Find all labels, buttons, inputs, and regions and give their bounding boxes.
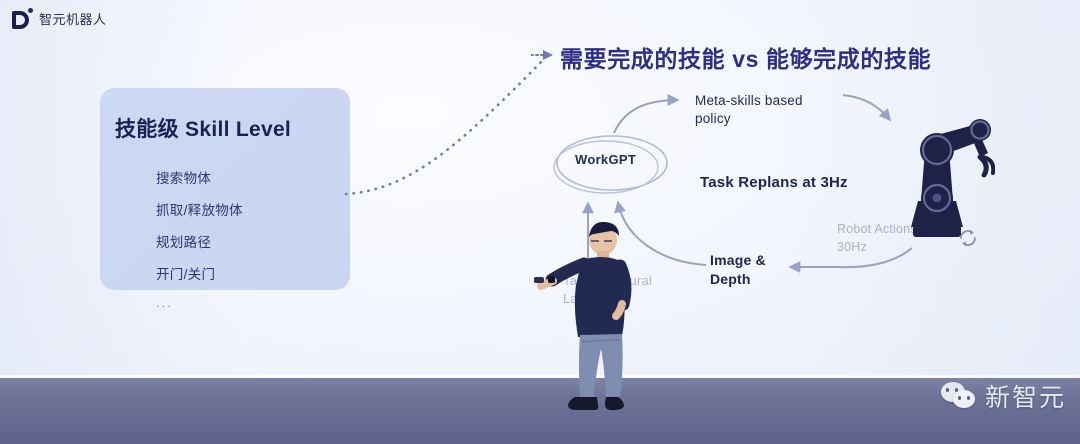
brand-logo: 智元机器人 [12, 8, 107, 29]
node-meta-skills-line1: Meta-skills based [695, 92, 803, 110]
skill-card-list: 搜索物体 抓取/释放物体 规划路径 开门/关门 ... [116, 167, 243, 322]
list-item: 搜索物体 [156, 167, 243, 187]
node-image-depth-line1: Image & [710, 251, 766, 270]
node-image-depth-line2: Depth [710, 270, 766, 289]
watermark: 新智元 [941, 378, 1066, 414]
list-item-ellipsis: ... [156, 295, 243, 310]
screenshot-stage: 智元机器人 需要完成的技能 vs 能够完成的技能 技能级 Skill Level… [0, 0, 1080, 444]
presenter-person-icon [534, 222, 654, 424]
node-image-depth: Image & Depth [710, 251, 766, 289]
page-title: 需要完成的技能 vs 能够完成的技能 [560, 40, 931, 74]
wechat-icon [941, 382, 977, 410]
list-item: 开门/关门 [156, 263, 243, 283]
node-meta-skills: Meta-skills based policy [695, 92, 803, 128]
node-workgpt: WorkGPT [575, 152, 636, 167]
brand-name: 智元机器人 [39, 9, 107, 28]
watermark-text: 新智元 [985, 378, 1066, 414]
node-task-replans: Task Replans at 3Hz [700, 173, 848, 193]
node-meta-skills-line2: policy [695, 110, 803, 128]
list-item: 抓取/释放物体 [156, 199, 243, 219]
robot-arm-icon [885, 105, 995, 245]
dotted-curve-arrow-icon [340, 40, 570, 210]
list-item: 规划路径 [156, 231, 243, 251]
skill-level-card: 技能级 Skill Level 搜索物体 抓取/释放物体 规划路径 开门/关门 … [100, 88, 350, 290]
zhiyuan-d-logo-icon [12, 8, 32, 29]
skill-card-heading: 技能级 Skill Level [115, 113, 291, 143]
